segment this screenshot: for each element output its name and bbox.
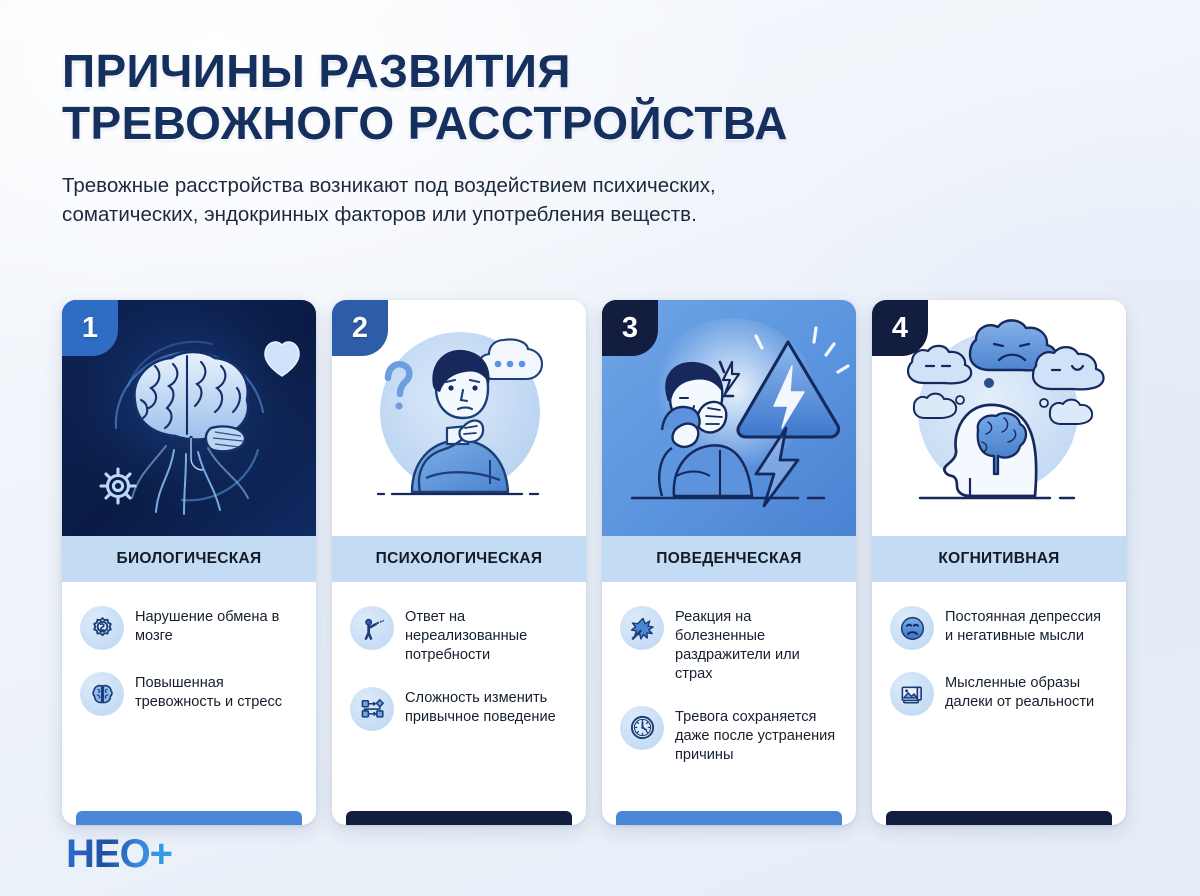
- card-4-footer-bar: [886, 811, 1112, 825]
- card-1-bullets: Нарушение обмена в мозге: [62, 582, 316, 811]
- card-3-label-band: ПОВЕДЕНЧЕСКАЯ: [602, 536, 856, 582]
- card-1-illustration: 1: [62, 300, 316, 536]
- list-item-text: Ответ на нереализованные потребности: [405, 606, 570, 665]
- card-2-number-badge: 2: [332, 300, 388, 356]
- list-item: Постоянная депрессия и негативные мысли: [890, 606, 1110, 650]
- title-line-2: ТРЕВОЖНОГО РАССТРОЙСТВА: [62, 98, 1142, 150]
- sad-face-icon: [890, 606, 934, 650]
- card-4-bullets: Постоянная депрессия и негативные мысли: [872, 582, 1126, 811]
- burst-icon: [620, 606, 664, 650]
- brand-logo: НЕО+: [66, 834, 172, 874]
- card-2-illustration: 2: [332, 300, 586, 536]
- list-item-text: Нарушение обмена в мозге: [135, 606, 300, 646]
- photos-icon: [890, 672, 934, 716]
- card-2-label-band: ПСИХОЛОГИЧЕСКАЯ: [332, 536, 586, 582]
- card-3-illustration: 3: [602, 300, 856, 536]
- card-cognitive[interactable]: 4 КОГНИТИВНАЯ: [872, 300, 1126, 825]
- card-4-label-band: КОГНИТИВНАЯ: [872, 536, 1126, 582]
- card-biological[interactable]: 1 БИОЛОГИЧЕСКАЯ Нарушение обмена в мозге: [62, 300, 316, 825]
- list-item: Сложность изменить привычное поведение: [350, 687, 570, 731]
- clock-icon: [620, 706, 664, 750]
- page-title: ПРИЧИНЫ РАЗВИТИЯ ТРЕВОЖНОГО РАССТРОЙСТВА: [62, 46, 1142, 149]
- list-item: Ответ на нереализованные потребности: [350, 606, 570, 665]
- list-item: Реакция на болезненные раздражители или …: [620, 606, 840, 684]
- card-1-number-badge: 1: [62, 300, 118, 356]
- card-1-footer-bar: [76, 811, 302, 825]
- card-2-label: ПСИХОЛОГИЧЕСКАЯ: [376, 550, 543, 568]
- card-3-number: 3: [622, 312, 638, 345]
- cards-row: 1 БИОЛОГИЧЕСКАЯ Нарушение обмена в мозге: [62, 300, 1144, 825]
- list-item-text: Повышенная тревожность и стресс: [135, 672, 300, 712]
- title-line-1: ПРИЧИНЫ РАЗВИТИЯ: [62, 45, 571, 97]
- list-item-text: Реакция на болезненные раздражители или …: [675, 606, 840, 684]
- card-3-footer-bar: [616, 811, 842, 825]
- list-item-text: Сложность изменить привычное поведение: [405, 687, 570, 727]
- card-1-label: БИОЛОГИЧЕСКАЯ: [117, 550, 262, 568]
- gear-neuron-icon: [80, 606, 124, 650]
- card-behavioral[interactable]: 3 ПОВЕДЕНЧЕСКАЯ Реакция на болезненные р…: [602, 300, 856, 825]
- infographic-canvas: ПРИЧИНЫ РАЗВИТИЯ ТРЕВОЖНОГО РАССТРОЙСТВА…: [0, 0, 1200, 896]
- header: ПРИЧИНЫ РАЗВИТИЯ ТРЕВОЖНОГО РАССТРОЙСТВА…: [62, 46, 1142, 229]
- card-2-number: 2: [352, 312, 368, 345]
- flow-diagram-icon: [350, 687, 394, 731]
- list-item: Нарушение обмена в мозге: [80, 606, 300, 650]
- list-item-text: Постоянная депрессия и негативные мысли: [945, 606, 1110, 646]
- list-item: Мысленные образы далеки от реальности: [890, 672, 1110, 716]
- list-item-text: Тревога сохраняется даже после устранени…: [675, 706, 840, 765]
- card-2-footer-bar: [346, 811, 572, 825]
- card-3-label: ПОВЕДЕНЧЕСКАЯ: [656, 550, 801, 568]
- card-4-number: 4: [892, 312, 908, 345]
- card-4-number-badge: 4: [872, 300, 928, 356]
- card-2-bullets: Ответ на нереализованные потребности: [332, 582, 586, 811]
- list-item: Повышенная тревожность и стресс: [80, 672, 300, 716]
- card-psychological[interactable]: 2 ПСИХОЛОГИЧЕСКАЯ: [332, 300, 586, 825]
- person-reaching-icon: [350, 606, 394, 650]
- card-3-number-badge: 3: [602, 300, 658, 356]
- card-4-illustration: 4: [872, 300, 1126, 536]
- list-item-text: Мысленные образы далеки от реальности: [945, 672, 1110, 712]
- brain-icon: [80, 672, 124, 716]
- list-item: Тревога сохраняется даже после устранени…: [620, 706, 840, 765]
- card-4-label: КОГНИТИВНАЯ: [938, 550, 1059, 568]
- page-subtitle: Тревожные расстройства возникают под воз…: [62, 171, 992, 229]
- subtitle-line-2: соматических, эндокринных факторов или у…: [62, 200, 992, 229]
- card-1-label-band: БИОЛОГИЧЕСКАЯ: [62, 536, 316, 582]
- subtitle-line-1: Тревожные расстройства возникают под воз…: [62, 171, 992, 200]
- card-1-number: 1: [82, 312, 98, 345]
- card-3-bullets: Реакция на болезненные раздражители или …: [602, 582, 856, 811]
